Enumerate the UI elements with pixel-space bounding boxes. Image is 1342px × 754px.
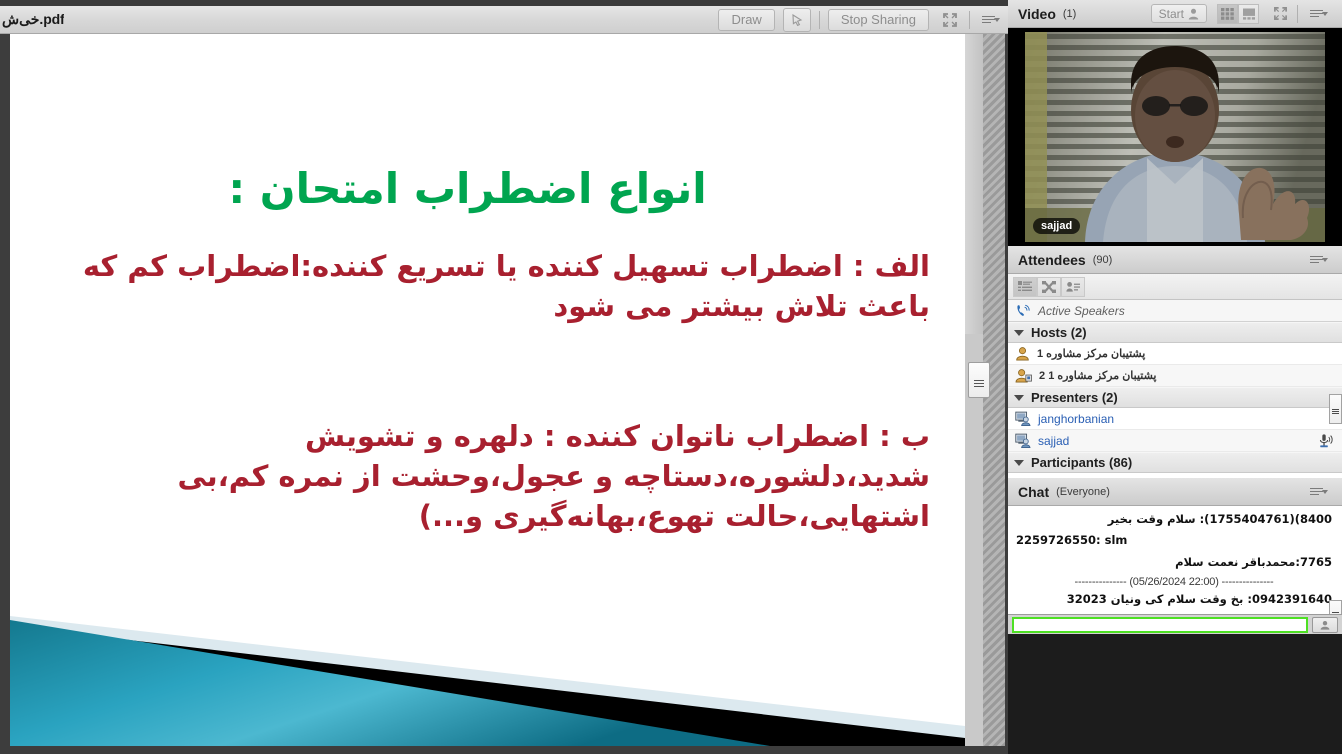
attendee-name: janghorbanian [1038, 412, 1114, 426]
group-label: Participants (86) [1031, 455, 1132, 470]
grid-view-icon[interactable] [1217, 4, 1238, 24]
fullscreen-icon[interactable] [937, 8, 963, 32]
chevron-down-icon[interactable] [1014, 460, 1024, 466]
start-webcam-label: Start [1159, 7, 1184, 21]
attendee-row-presenter-1[interactable]: janghorbanian [1008, 408, 1342, 430]
video-fullscreen-icon[interactable] [1267, 2, 1293, 26]
share-pod-titlebar: خی‌ش.pdf Draw Stop Sharing [0, 6, 1008, 34]
attendees-scroll-handle[interactable] [1329, 394, 1342, 424]
chevron-down-icon[interactable] [1014, 395, 1024, 401]
toolbar-separator-2 [969, 11, 970, 29]
draw-button[interactable]: Draw [718, 9, 774, 31]
single-view-icon[interactable] [1238, 4, 1259, 24]
chat-message: 2259726550: slm [1016, 533, 1332, 547]
presenter-icon [1015, 433, 1031, 448]
slide-title: انواع اضطراب امتحان : [10, 166, 925, 212]
chat-message: 8400)(1755404761): سلام وقت بخیر [1016, 512, 1332, 526]
pointer-arrow-icon[interactable] [783, 8, 811, 32]
chevron-down-icon[interactable] [1014, 330, 1024, 336]
video-pod-count: (1) [1063, 8, 1076, 20]
video-view-mode-group [1217, 4, 1259, 24]
chat-timestamp-divider: --------------- (05/26/2024 22:00) -----… [1016, 576, 1332, 588]
attendee-list[interactable]: Hosts (2) پشتیبان مرکز مشاوره 1 [1008, 322, 1342, 478]
webcam-image [1025, 32, 1325, 242]
attendee-details-button[interactable] [1061, 277, 1085, 297]
slide-paragraph-a: الف : اضطراب تسهیل کننده یا تسریع کننده:… [70, 246, 930, 326]
video-pod-header: Video (1) Start [1008, 0, 1342, 28]
group-label: Hosts (2) [1031, 325, 1087, 340]
video-header-separator [1297, 5, 1298, 23]
attendee-row-presenter-2[interactable]: sajjad [1008, 430, 1342, 452]
video-pod-body: sajjad [1008, 28, 1342, 246]
breakout-rooms-button[interactable] [1037, 277, 1061, 297]
menu-lines-icon [982, 14, 1000, 26]
attendees-count: (90) [1093, 254, 1113, 266]
slide-scroll-handle[interactable] [968, 362, 990, 398]
attendees-toolbar [1008, 274, 1342, 300]
menu-lines-icon [1310, 486, 1328, 498]
attendee-row-host-1[interactable]: پشتیبان مرکز مشاوره 1 [1008, 343, 1342, 365]
chat-pod: Chat (Everyone) 8400)(1755404761): سلام … [1008, 478, 1342, 634]
attendee-name: پشتیبان مرکز مشاوره 1 [1037, 347, 1145, 360]
attendee-group-participants[interactable]: Participants (86) [1008, 452, 1342, 473]
share-pod: خی‌ش.pdf Draw Stop Sharing [0, 0, 1008, 754]
group-label: Presenters (2) [1031, 390, 1118, 405]
pod-menu-icon[interactable] [978, 8, 1004, 32]
chat-message: 7765:محمدباقر نعمت سلام [1016, 555, 1332, 569]
host-icon [1015, 346, 1030, 361]
webcam-name-label: sajjad [1033, 218, 1080, 234]
stop-sharing-button[interactable]: Stop Sharing [828, 9, 929, 31]
presenter-icon [1015, 411, 1031, 426]
chat-pod-menu-icon[interactable] [1306, 480, 1332, 504]
chat-message: 0942391640: بخ وقت سلام کی ونیان 32023 [1016, 592, 1332, 606]
shared-document-title: خی‌ش.pdf [2, 11, 64, 28]
attendee-list-view-button[interactable] [1013, 277, 1037, 297]
slide-decorative-banner [10, 576, 965, 746]
pdf-slide: انواع اضطراب امتحان : الف : اضطراب تسهیل… [10, 34, 965, 746]
start-webcam-button[interactable]: Start [1151, 4, 1207, 23]
person-icon [1188, 8, 1199, 20]
chat-pod-header: Chat (Everyone) [1008, 478, 1342, 506]
active-speakers-row: Active Speakers [1008, 300, 1342, 322]
right-pod-column: Video (1) Start [1008, 0, 1342, 754]
send-chat-icon[interactable] [1312, 617, 1338, 633]
webcam-feed[interactable]: sajjad [1025, 32, 1325, 242]
active-speakers-label: Active Speakers [1038, 304, 1125, 318]
attendees-pod-header: Attendees (90) [1008, 246, 1342, 274]
speaker-phone-icon [1016, 304, 1031, 318]
chat-scope: (Everyone) [1056, 486, 1110, 498]
attendee-group-presenters[interactable]: Presenters (2) [1008, 387, 1342, 408]
attendee-row-host-2[interactable]: پشتیبان مرکز مشاوره 1 2 [1008, 365, 1342, 387]
shared-document-viewport: انواع اضطراب امتحان : الف : اضطراب تسهیل… [0, 34, 1008, 754]
attendees-pod-title: Attendees [1018, 252, 1086, 268]
host-screen-icon [1015, 368, 1032, 383]
attendee-group-hosts[interactable]: Hosts (2) [1008, 322, 1342, 343]
slide-content: انواع اضطراب امتحان : الف : اضطراب تسهیل… [10, 34, 965, 746]
video-pod-menu-icon[interactable] [1306, 2, 1332, 26]
attendee-name: پشتیبان مرکز مشاوره 1 2 [1039, 369, 1156, 382]
slide-paragraph-b: ب : اضطراب ناتوان کننده : دلهره و تشویش … [70, 416, 930, 536]
toolbar-separator [819, 11, 820, 29]
chat-input-bar [1008, 614, 1342, 634]
attendees-pod-menu-icon[interactable] [1306, 248, 1332, 272]
chat-pod-title: Chat [1018, 484, 1049, 500]
adobe-connect-meeting-window: خی‌ش.pdf Draw Stop Sharing [0, 0, 1342, 754]
attendees-pod: Attendees (90) [1008, 246, 1342, 478]
menu-lines-icon [1310, 254, 1328, 266]
slide-scrollbar-thumb[interactable] [965, 34, 983, 334]
video-pod-title: Video [1018, 6, 1056, 22]
video-pod: Video (1) Start [1008, 0, 1342, 246]
chat-input[interactable] [1012, 617, 1308, 633]
microphone-active-icon[interactable] [1318, 433, 1334, 454]
attendee-name: sajjad [1038, 434, 1069, 448]
menu-lines-icon [1310, 8, 1328, 20]
